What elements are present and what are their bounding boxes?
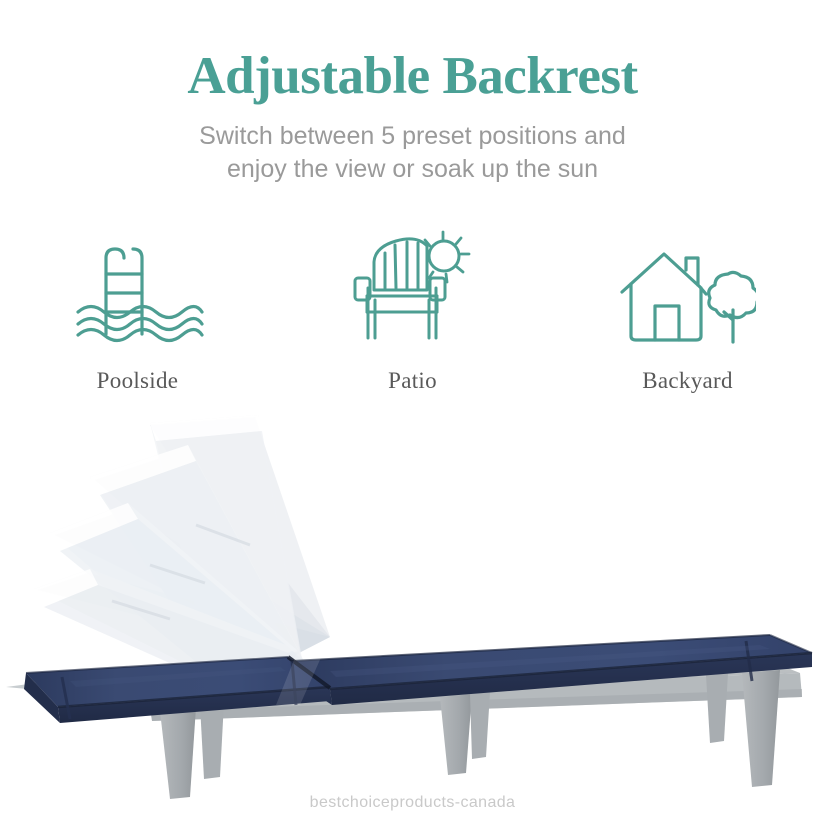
header-block: Adjustable Backrest Switch between 5 pre… xyxy=(0,46,825,186)
product-feature-banner: Adjustable Backrest Switch between 5 pre… xyxy=(0,0,825,825)
chaise-lounge-frame xyxy=(6,635,812,799)
house-tree-icon xyxy=(620,228,756,346)
feature-item-patio: Patio xyxy=(298,228,528,394)
feature-item-backyard: Backyard xyxy=(573,228,803,394)
page-title: Adjustable Backrest xyxy=(0,46,825,106)
page-subtitle-line-1: Switch between 5 preset positions and xyxy=(133,120,693,153)
feature-label-backyard: Backyard xyxy=(642,368,733,394)
adirondack-chair-sun-icon xyxy=(351,228,475,346)
feature-label-poolside: Poolside xyxy=(97,368,179,394)
product-image xyxy=(0,405,825,825)
feature-label-patio: Patio xyxy=(388,368,437,394)
ghost-backrest-positions xyxy=(34,415,330,689)
page-subtitle: Switch between 5 preset positions and en… xyxy=(133,120,693,186)
pool-ladder-icon xyxy=(72,228,204,346)
page-subtitle-line-2: enjoy the view or soak up the sun xyxy=(133,153,693,186)
feature-item-poolside: Poolside xyxy=(23,228,253,394)
feature-row: Poolside xyxy=(0,228,825,394)
